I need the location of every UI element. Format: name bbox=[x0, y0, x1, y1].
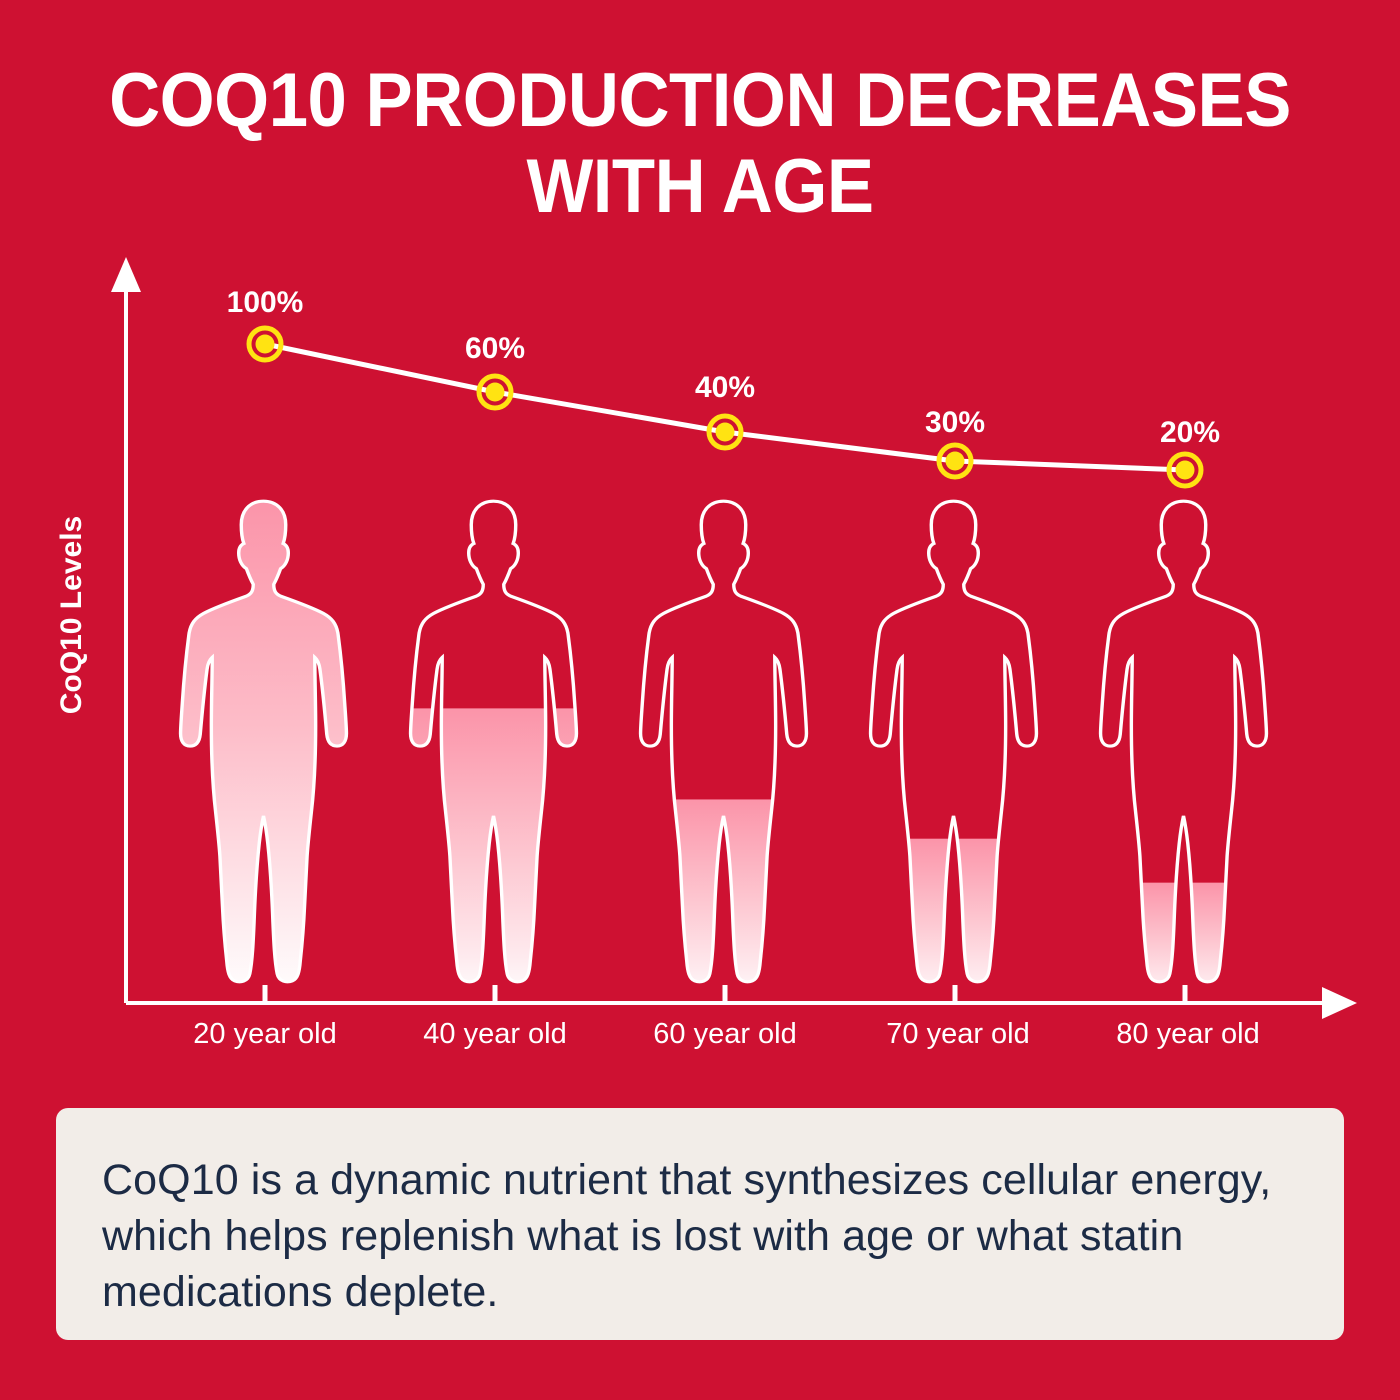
x-axis-label-80: 80 year old bbox=[1116, 1018, 1260, 1050]
x-axis-arrow-icon bbox=[1322, 987, 1357, 1019]
x-axis-label-20: 20 year old bbox=[193, 1018, 337, 1050]
y-axis-title: CoQ10 Levels bbox=[57, 495, 87, 735]
body-figure-80 bbox=[1098, 501, 1269, 1000]
y-axis-arrow-icon bbox=[111, 257, 141, 292]
body-figure-60 bbox=[638, 501, 809, 1000]
x-axis-ticks bbox=[265, 985, 1185, 1003]
x-axis-label-60: 60 year old bbox=[653, 1018, 797, 1050]
x-axis-label-40: 40 year old bbox=[423, 1018, 567, 1050]
data-label-60: 40% bbox=[695, 373, 755, 403]
data-point-markers bbox=[249, 328, 1201, 486]
body-figure-70 bbox=[868, 501, 1039, 1000]
caption-box: CoQ10 is a dynamic nutrient that synthes… bbox=[56, 1108, 1344, 1340]
data-label-20: 100% bbox=[227, 288, 304, 318]
x-axis-label-70: 70 year old bbox=[886, 1018, 1030, 1050]
trend-line bbox=[265, 344, 1185, 470]
infographic-root: COQ10 PRODUCTION DECREASES WITH AGE bbox=[0, 0, 1400, 1400]
body-figure-40 bbox=[408, 501, 579, 1000]
body-figure-20 bbox=[178, 498, 349, 1000]
data-label-40: 60% bbox=[465, 334, 525, 364]
data-label-70: 30% bbox=[925, 408, 985, 438]
caption-text: CoQ10 is a dynamic nutrient that synthes… bbox=[102, 1152, 1298, 1320]
data-label-80: 20% bbox=[1160, 418, 1220, 448]
